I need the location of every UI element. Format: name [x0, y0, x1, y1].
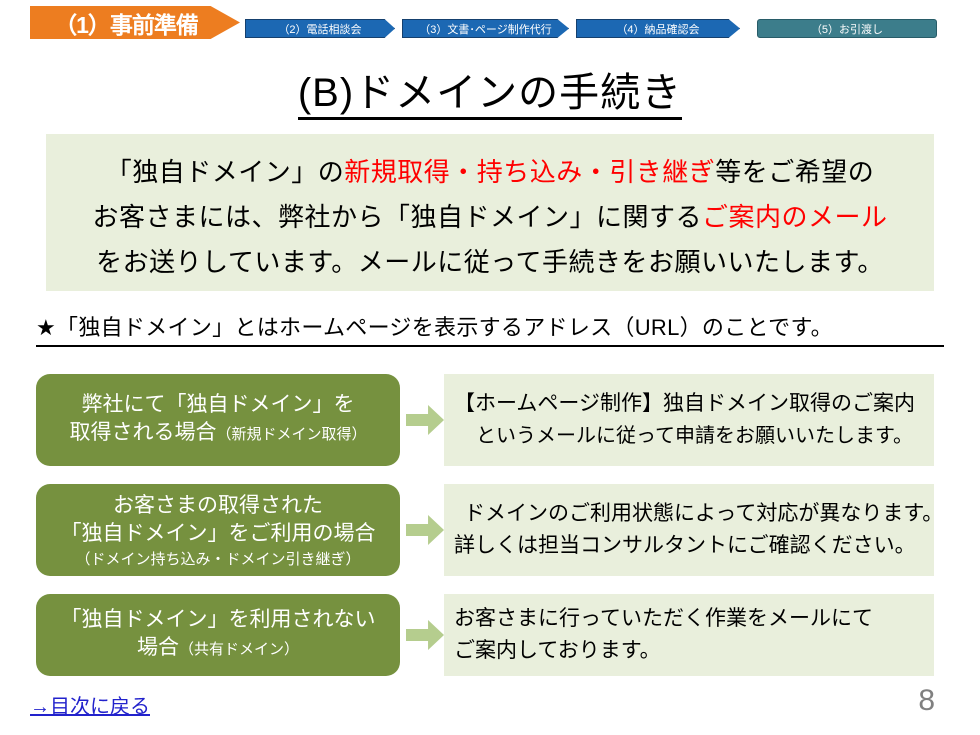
result-box-2-line-1: ドメインのご利用状態によって対応が異なります。	[454, 498, 924, 530]
intro-callout-panel: 「独自ドメイン」の新規取得・持ち込み・引き継ぎ等をご希望の お客さまには、弊社か…	[46, 134, 934, 291]
case-box-2: お客さまの取得された 「独自ドメイン」をご利用の場合 （ドメイン持ち込み・ドメイ…	[36, 484, 400, 576]
step-label-1: （1）事前準備	[54, 6, 198, 40]
case-box-3-line-1: 「独自ドメイン」を利用されない	[61, 606, 376, 634]
callout-line-1: 「独自ドメイン」の新規取得・持ち込み・引き継ぎ等をご希望の	[46, 150, 934, 195]
callout-line-1-suffix: 等をご希望の	[715, 157, 874, 187]
case-row-3: 「独自ドメイン」を利用されない 場合（共有ドメイン） お客さまに行っていただく作…	[0, 594, 980, 676]
arrow-right-icon-1	[406, 405, 444, 435]
result-box-2: ドメインのご利用状態によって対応が異なります。 詳しくは担当コンサルタントにご確…	[444, 484, 934, 576]
case-box-3: 「独自ドメイン」を利用されない 場合（共有ドメイン）	[36, 594, 400, 676]
result-box-3-line-2: ご案内しております。	[454, 635, 924, 667]
callout-line-2-highlight: ご案内のメール	[702, 202, 888, 232]
result-box-3: お客さまに行っていただく作業をメールにて ご案内しております。	[444, 594, 934, 676]
step-label-5: （5）お引渡し	[811, 21, 883, 37]
step-label-2: （2）電話相談会	[278, 21, 361, 37]
case-box-3-line-2: 場合（共有ドメイン）	[137, 634, 299, 664]
arrow-right-icon-2	[406, 515, 444, 545]
result-box-2-line-2: 詳しくは担当コンサルタントにご確認ください。	[454, 530, 924, 562]
callout-line-1-prefix: 「独自ドメイン」の	[106, 157, 345, 187]
case-box-1-sub: （新規ドメイン取得）	[216, 426, 366, 443]
page-title-text: (B)ドメインの手続き	[298, 71, 682, 120]
case-box-3-sub: （共有ドメイン）	[179, 641, 299, 658]
case-box-1-line-2: 取得される場合（新規ドメイン取得）	[69, 419, 366, 449]
back-to-toc-link[interactable]: →目次に戻る	[30, 690, 150, 719]
case-box-2-sub: （ドメイン持ち込み・ドメイン引き継ぎ）	[75, 548, 360, 569]
star-note-text: ★「独自ドメイン」とはホームページを表示するアドレス（URL）のことです。	[36, 315, 833, 340]
callout-line-1-highlight: 新規取得・持ち込み・引き継ぎ	[344, 157, 715, 187]
case-box-1-line-1: 弊社にて「独自ドメイン」を	[82, 391, 355, 419]
page-number: 8	[918, 684, 935, 718]
back-to-toc-label: →目次に戻る	[30, 696, 150, 718]
result-box-1: 【ホームページ制作】独自ドメイン取得のご案内 というメールに従って申請をお願いい…	[444, 374, 934, 466]
step-label-4: （4）納品確認会	[616, 21, 699, 37]
step-item-1[interactable]: （1）事前準備	[30, 6, 240, 39]
step-item-2[interactable]: （2）電話相談会	[245, 19, 395, 38]
step-item-4[interactable]: （4）納品確認会	[576, 19, 740, 38]
callout-line-3-text: をお送りしています。メールに従って手続きをお願いいたします。	[96, 247, 884, 277]
case-box-1-line-2-text: 取得される場合	[69, 421, 216, 444]
arrow-right-icon-3	[406, 620, 444, 650]
case-box-2-line-2: 「独自ドメイン」をご利用の場合	[61, 520, 376, 548]
case-row-1: 弊社にて「独自ドメイン」を 取得される場合（新規ドメイン取得） 【ホームページ制…	[0, 374, 980, 466]
page-number-value: 8	[918, 684, 935, 717]
callout-line-3: をお送りしています。メールに従って手続きをお願いいたします。	[46, 240, 934, 285]
result-box-3-line-1: お客さまに行っていただく作業をメールにて	[454, 603, 924, 635]
page-title: (B)ドメインの手続き	[0, 60, 980, 118]
result-box-1-line-2: というメールに従って申請をお願いいたします。	[454, 420, 924, 452]
star-note: ★「独自ドメイン」とはホームページを表示するアドレス（URL）のことです。	[36, 310, 944, 347]
callout-line-2: お客さまには、弊社から「独自ドメイン」に関するご案内のメール	[46, 195, 934, 240]
step-label-3: （3）文書･ページ制作代行	[419, 21, 551, 37]
step-item-5[interactable]: （5）お引渡し	[757, 19, 937, 38]
step-item-3[interactable]: （3）文書･ページ制作代行	[402, 19, 569, 38]
callout-line-2-prefix: お客さまには、弊社から「独自ドメイン」に関する	[92, 202, 702, 232]
result-box-1-line-1: 【ホームページ制作】独自ドメイン取得のご案内	[454, 388, 924, 420]
case-row-2: お客さまの取得された 「独自ドメイン」をご利用の場合 （ドメイン持ち込み・ドメイ…	[0, 484, 980, 576]
case-box-3-line-2-text: 場合	[137, 636, 179, 659]
case-box-1: 弊社にて「独自ドメイン」を 取得される場合（新規ドメイン取得）	[36, 374, 400, 466]
step-navigation: （1）事前準備 （2）電話相談会 （3）文書･ページ制作代行 （4）納品確認会 …	[0, 0, 980, 46]
case-box-2-line-1: お客さまの取得された	[113, 492, 323, 520]
